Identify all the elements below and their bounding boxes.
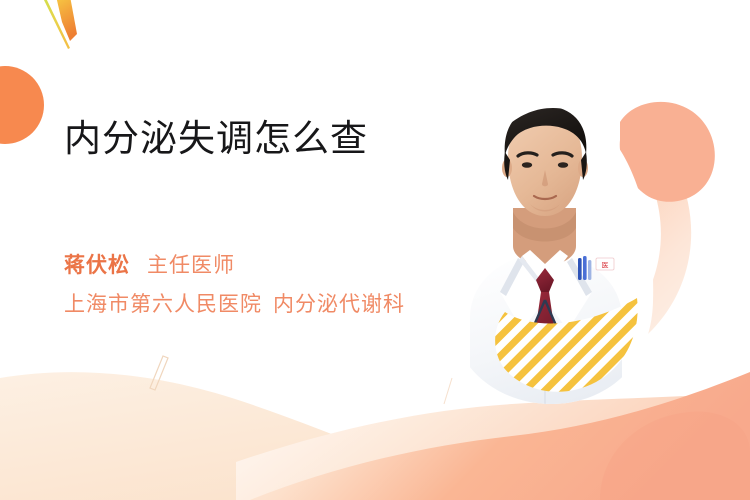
thumbnail-canvas: 医 内分泌失调怎么查 蒋伏松主任医师 上海市第六人民医院内分泌代谢科 [0, 0, 750, 500]
doctor-affiliation-row: 上海市第六人民医院内分泌代谢科 [64, 288, 405, 318]
doctor-title: 主任医师 [147, 254, 235, 277]
title-block: 内分泌失调怎么查 [64, 116, 484, 161]
doctor-hospital: 上海市第六人民医院 [64, 293, 262, 316]
page-title: 内分泌失调怎么查 [64, 116, 484, 161]
doctor-department: 内分泌代谢科 [273, 293, 405, 316]
doctor-name: 蒋伏松 [64, 254, 130, 277]
doctor-name-row: 蒋伏松主任医师 [64, 249, 235, 279]
